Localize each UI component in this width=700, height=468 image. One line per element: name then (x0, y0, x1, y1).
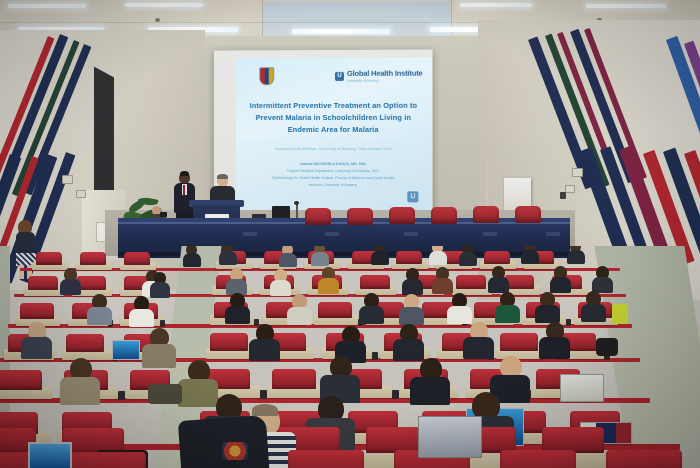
ceiling-light (8, 4, 86, 8)
laptop (28, 442, 72, 468)
slide-affiliation-3: sciences, University of Antwerp (242, 183, 426, 189)
ghi-title: Global Health Institute (347, 69, 422, 78)
camera-icon (160, 212, 167, 217)
desk-nameplate (325, 232, 339, 236)
speaker-icon (565, 185, 575, 193)
panel-chair (389, 207, 415, 224)
slide-affiliation-2: Epidemiology for Global Health Institute… (238, 176, 430, 182)
jacket-logo-patch (222, 442, 248, 460)
audience-seating (0, 246, 700, 468)
laptop (112, 340, 140, 360)
desk-nameplate (483, 232, 497, 236)
projection-screen: U Global Health Institute University of … (214, 49, 433, 216)
hair (217, 174, 228, 179)
desk-nameplate (546, 232, 560, 236)
desk-nameplate (404, 232, 418, 236)
microphone-icon (294, 201, 299, 205)
lecture-hall-photo: U Global Health Institute University of … (0, 0, 700, 468)
hair (180, 171, 189, 176)
desk-nameplate (243, 232, 257, 236)
slide-footer-mark-icon: U (407, 191, 418, 202)
backpack (596, 338, 618, 356)
hi-vis-vest (612, 304, 628, 324)
presentation-slide: U Global Health Institute University of … (236, 57, 432, 210)
slide-affiliation-1: Tropical Medicine Department, University… (242, 169, 426, 175)
speaker-icon (572, 168, 583, 177)
ceiling-light (586, 4, 666, 8)
ceiling-light (292, 29, 390, 34)
ghi-logo: U Global Health Institute University of … (335, 69, 422, 83)
laptop (418, 416, 482, 458)
university-shield-logo-icon (259, 67, 274, 85)
panel-chair (473, 206, 499, 223)
ghi-subtitle: University of Antwerp (347, 79, 422, 83)
panel-chair (431, 207, 457, 224)
slide-title-line2: Prevent Malaria in Schoolchildren Living… (242, 113, 426, 124)
speaker-icon (76, 190, 86, 198)
slide-subtitle: Doctoral thesis defense, University of A… (242, 146, 426, 151)
slide-title-line3: Endemic Area for Malaria (242, 125, 426, 136)
wall-fixture (560, 192, 566, 199)
panel-chair (515, 206, 541, 223)
slide-author: Joanna MATANGILA KANZA, MD, MSc (242, 162, 426, 168)
speaker-icon (62, 175, 73, 184)
ceiling-light (460, 3, 532, 7)
ceiling-light (125, 3, 203, 7)
panel-chair (347, 208, 373, 225)
panel-chair (305, 208, 331, 225)
ceiling-spotlight-icon (155, 18, 160, 22)
ghi-mark-icon: U (335, 71, 344, 80)
slide-title-line1: Intermittent Preventive Treatment an Opt… (242, 101, 426, 112)
